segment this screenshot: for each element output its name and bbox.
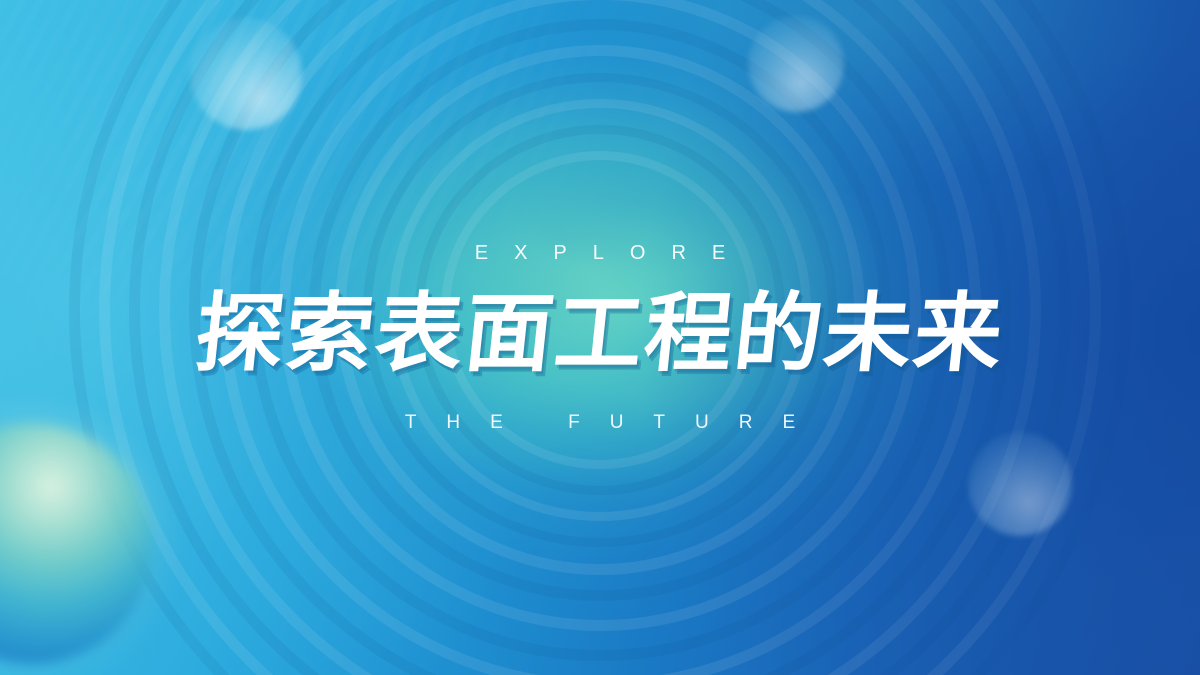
slide-content: EXPLORE 探索表面工程的未来 THE FUTURE <box>0 0 1200 675</box>
slide-canvas: EXPLORE 探索表面工程的未来 THE FUTURE <box>0 0 1200 675</box>
kicker-bottom-the-future: THE FUTURE <box>375 413 825 432</box>
page-title: 探索表面工程的未来 <box>192 291 1009 377</box>
kicker-top-explore: EXPLORE <box>449 243 751 263</box>
